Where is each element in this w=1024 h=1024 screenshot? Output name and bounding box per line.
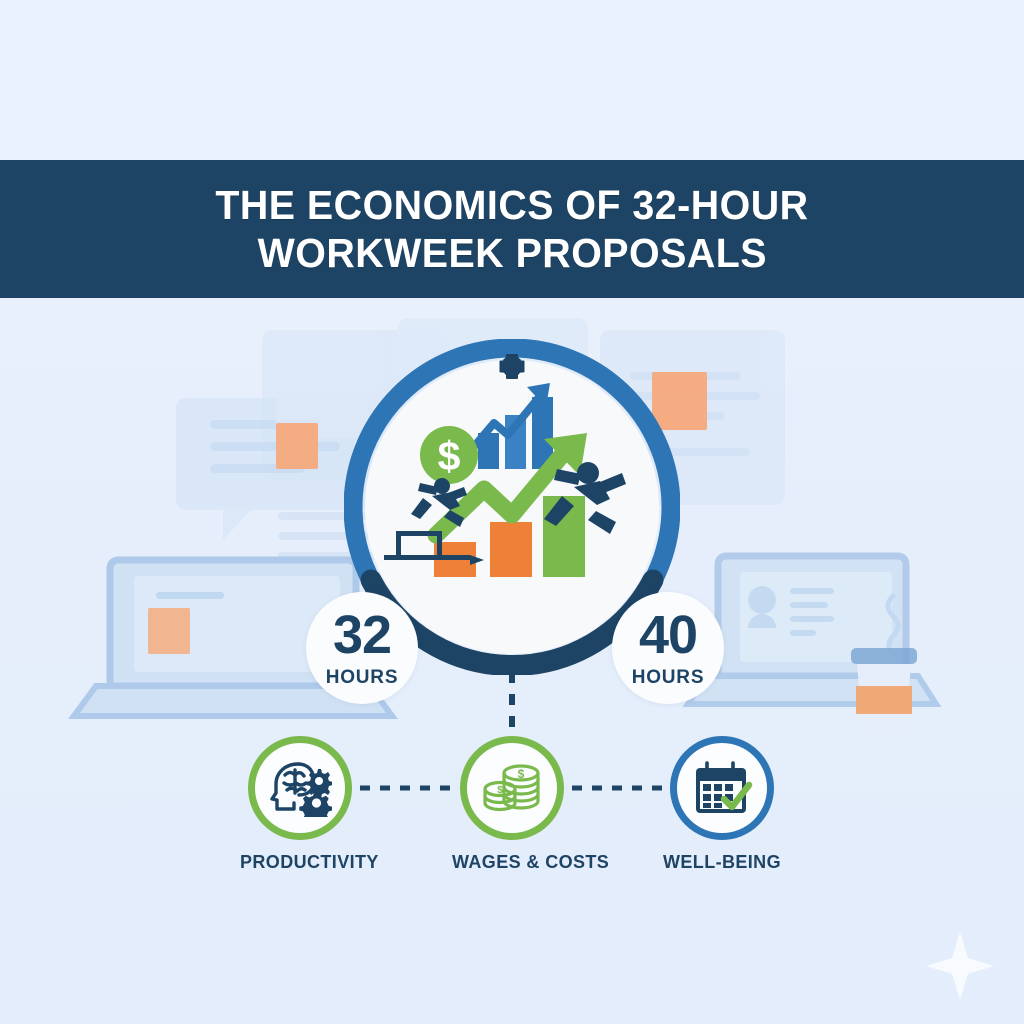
page-title-line-2: WORKWEEK PROPOSALS	[257, 229, 766, 277]
pillar-wages-costs-ring: $ $	[460, 736, 564, 840]
infographic-canvas: THE ECONOMICS OF 32-HOUR WORKWEEK PROPOS…	[0, 0, 1024, 1024]
sticky-note-left	[148, 608, 190, 654]
profile-card	[748, 586, 834, 636]
pillar-well-being-ring	[670, 736, 774, 840]
coffee-cup	[851, 596, 917, 734]
badge-40-hours: 40 HOURS	[612, 592, 724, 704]
pillar-productivity[interactable]: PRODUCTIVITY	[240, 736, 360, 873]
page-title-line-1: THE ECONOMICS OF 32-HOUR	[215, 181, 808, 229]
pillar-wages-costs-label: WAGES & COSTS	[452, 852, 572, 873]
svg-text:$: $	[497, 785, 503, 796]
laptop-right	[688, 556, 936, 704]
svg-text:$: $	[438, 433, 461, 479]
brain-gears-icon	[268, 759, 332, 817]
pillar-well-being[interactable]: WELL-BEING	[662, 736, 782, 873]
pillar-well-being-label: WELL-BEING	[662, 852, 782, 873]
bar-orange-2	[490, 522, 532, 577]
pillar-productivity-label: PRODUCTIVITY	[240, 852, 360, 873]
sparkle-icon	[926, 932, 994, 1000]
calendar-check-icon	[691, 759, 753, 817]
title-banner: THE ECONOMICS OF 32-HOUR WORKWEEK PROPOS…	[0, 160, 1024, 298]
badge-32-unit: HOURS	[326, 667, 399, 689]
pillar-productivity-ring	[248, 736, 352, 840]
dollar-coin-icon: $	[420, 426, 478, 484]
badge-32-number: 32	[333, 608, 391, 662]
sticky-note-top	[276, 423, 318, 469]
badge-40-unit: HOURS	[632, 667, 705, 689]
badge-32-hours: 32 HOURS	[306, 592, 418, 704]
coin-stack-icon: $ $	[481, 760, 543, 816]
svg-text:$: $	[518, 767, 525, 781]
badge-40-number: 40	[639, 608, 697, 662]
pillar-wages-costs[interactable]: $ $ WAGES & COSTS	[452, 736, 572, 873]
